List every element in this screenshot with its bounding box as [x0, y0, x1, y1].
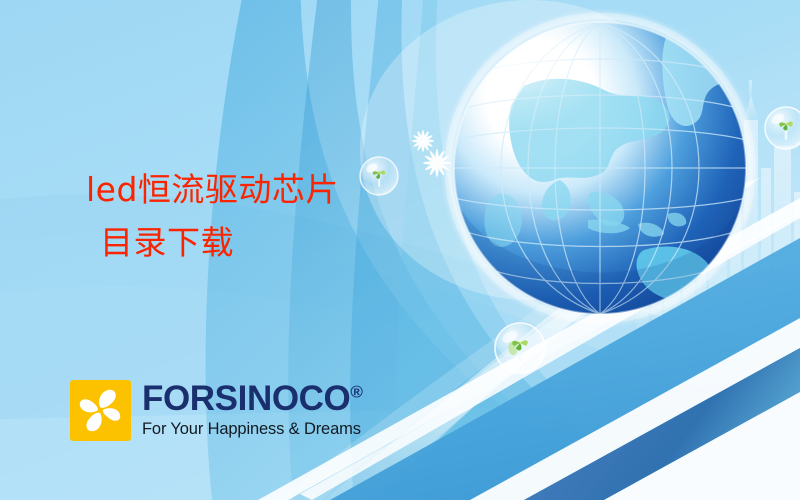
headline: led恒流驱动芯片 目录下载	[86, 163, 339, 270]
logo-wordmark-text: FORSINOCO	[142, 379, 350, 418]
company-logo[interactable]: FORSINOCO® For Your Happiness & Dreams	[70, 380, 363, 441]
four-petal-pinwheel-icon	[70, 380, 131, 441]
headline-line-1: led恒流驱动芯片	[86, 170, 339, 209]
logo-wordmark: FORSINOCO®	[142, 382, 363, 416]
logo-tagline: For Your Happiness & Dreams	[142, 420, 363, 439]
starburst-sparkle-icon	[420, 146, 454, 180]
globe-graphic	[432, 8, 768, 344]
registered-trademark-icon: ®	[350, 383, 362, 402]
bubble-windmill-icon	[357, 154, 401, 198]
bubble-windmill-icon	[492, 320, 548, 376]
banner-canvas: led恒流驱动芯片 目录下载 FORSINOCO® For Your Happi…	[0, 0, 800, 500]
logo-text-block: FORSINOCO® For Your Happiness & Dreams	[142, 382, 363, 438]
globe-icon	[432, 8, 768, 344]
bubble-windmill-icon	[762, 104, 800, 152]
headline-line-2: 目录下载	[86, 216, 339, 269]
